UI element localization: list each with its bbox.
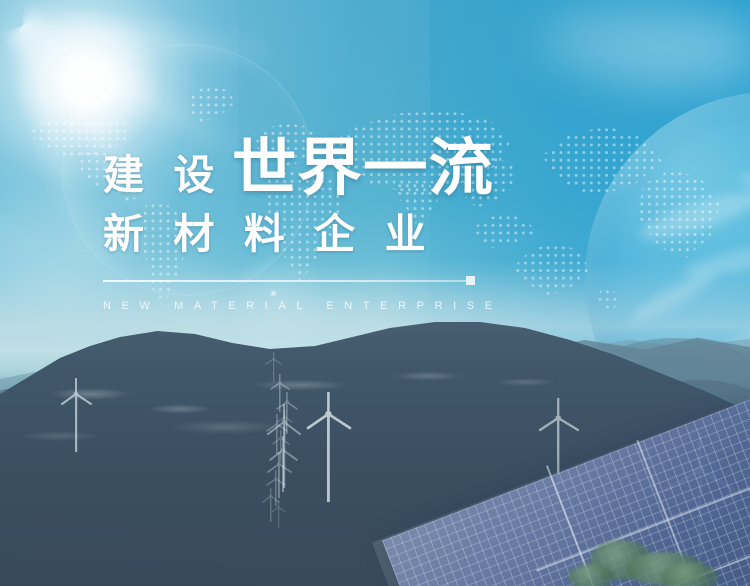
divider-line xyxy=(103,280,466,282)
wind-turbine xyxy=(268,500,290,528)
wind-turbine xyxy=(262,352,286,382)
headline-block: 建 设 世界一流 新 材 料 企 业 NEW MATERIAL ENTERPRI… xyxy=(103,138,523,312)
foliage xyxy=(662,562,718,586)
worldmap-region xyxy=(514,244,588,296)
worldmap-region xyxy=(182,86,236,122)
wind-turbine xyxy=(300,392,356,502)
headline-line-1: 建 设 世界一流 xyxy=(103,138,523,200)
worldmap-region xyxy=(596,288,620,314)
wind-turbine xyxy=(273,410,297,440)
wind-turbine xyxy=(56,378,96,452)
headline-prefix: 建 设 xyxy=(103,155,223,196)
foliage xyxy=(568,564,614,586)
headline-line-2: 新 材 料 企 业 xyxy=(103,214,523,255)
headline-subtitle: NEW MATERIAL ENTERPRISE xyxy=(103,300,523,312)
divider-end-square xyxy=(466,276,475,285)
worldmap-region xyxy=(638,170,720,262)
hero-banner: 建 设 世界一流 新 材 料 企 业 NEW MATERIAL ENTERPRI… xyxy=(0,0,750,586)
headline-emphasis: 世界一流 xyxy=(232,138,494,200)
headline-divider xyxy=(103,276,475,285)
